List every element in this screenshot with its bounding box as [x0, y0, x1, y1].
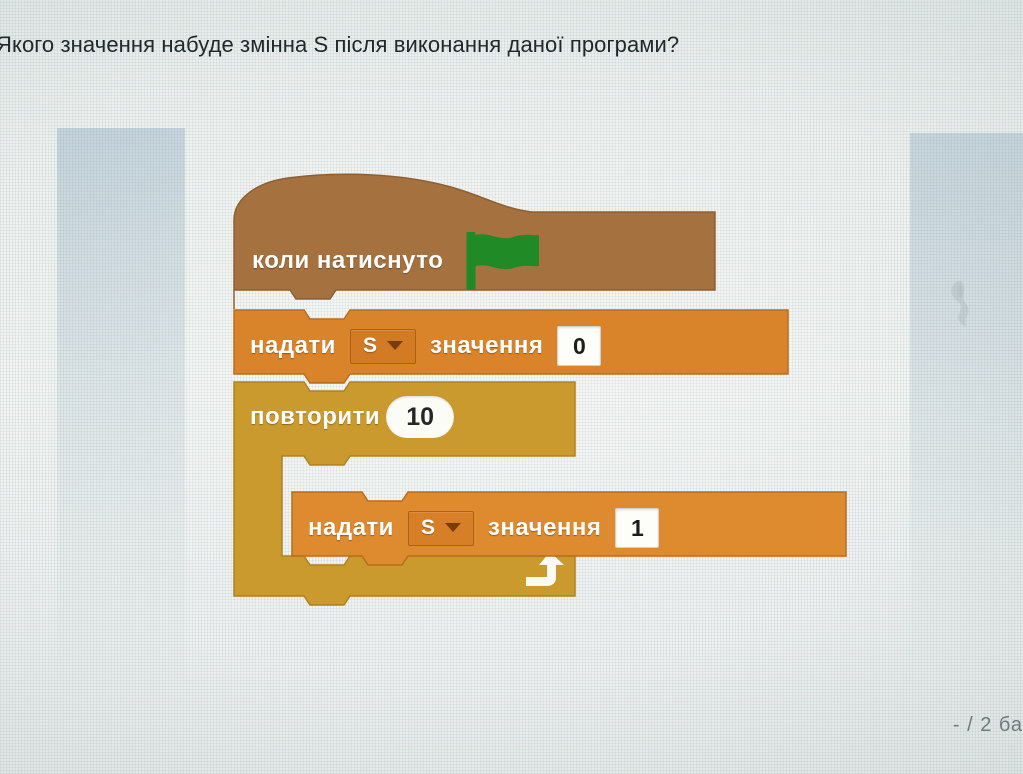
set-block-inner-label-before: надати	[308, 514, 394, 542]
block-when-flag-clicked[interactable]: коли натиснуто	[232, 168, 717, 311]
variable-name-outer: S	[363, 334, 377, 358]
hat-block-content: коли натиснуто	[252, 232, 543, 290]
variable-name-inner: S	[421, 516, 435, 540]
green-flag-icon	[465, 232, 543, 290]
block-set-variable-outer[interactable]: надати S значення 0	[232, 308, 790, 386]
variable-dropdown-inner[interactable]: S	[408, 511, 474, 546]
repeat-block-label: повторити	[250, 403, 380, 431]
variable-dropdown-outer[interactable]: S	[350, 329, 416, 364]
chevron-down-icon	[445, 523, 461, 532]
set-value-input-outer[interactable]: 0	[557, 326, 601, 366]
set-block-outer-content: надати S значення 0	[250, 326, 601, 366]
scratch-block-stack: коли натиснуто надати S значення 0 пов	[232, 168, 872, 608]
set-block-outer-label-before: надати	[250, 332, 336, 360]
block-set-variable-inner[interactable]: надати S значення 1	[290, 490, 848, 568]
repeat-block-content: повторити 10	[250, 396, 454, 438]
repeat-count-input[interactable]: 10	[386, 396, 454, 438]
set-block-inner-label-after: значення	[488, 514, 601, 542]
set-block-inner-content: надати S значення 1	[308, 508, 659, 548]
question-text: Якого значення набуде змінна S після вик…	[0, 32, 1006, 58]
set-value-input-inner[interactable]: 1	[615, 508, 659, 548]
set-block-outer-label-after: значення	[430, 332, 543, 360]
hat-block-label: коли натиснуто	[252, 247, 443, 275]
chevron-down-icon	[387, 341, 403, 350]
score-indicator: - / 2 ба	[953, 714, 1023, 737]
